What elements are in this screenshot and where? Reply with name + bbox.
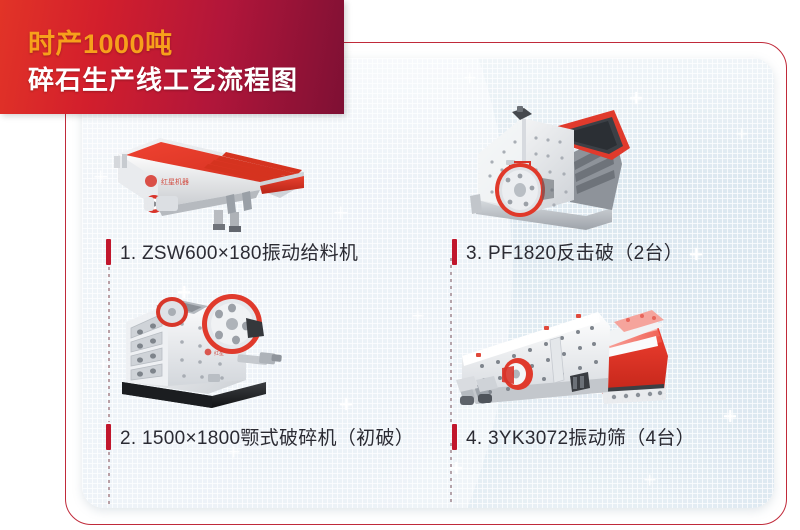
item-label-text: 1. ZSW600×180振动给料机 — [120, 238, 358, 265]
accent-bar — [452, 424, 457, 450]
infographic-canvas: 红星机器 1. ZSW600×180振动给料机 — [0, 0, 800, 530]
item-label-1: 1. ZSW600×180振动给料机 — [106, 238, 358, 265]
item-label-2: 2. 1500×1800颚式破碎机（初破） — [106, 423, 414, 450]
machine-image-vibrating-feeder: 红星机器 — [104, 124, 310, 232]
banner-line-1: 时产1000吨 — [28, 22, 173, 61]
banner-line-2: 碎石生产线工艺流程图 — [28, 60, 298, 97]
accent-bar — [106, 239, 111, 265]
accent-bar — [106, 424, 111, 450]
svg-text:红星: 红星 — [214, 350, 224, 357]
machine-image-jaw-crusher: 红星 — [96, 282, 304, 408]
machine-image-impact-crusher — [462, 104, 642, 232]
title-banner: 时产1000吨 碎石生产线工艺流程图 — [0, 0, 344, 114]
svg-text:红星机器: 红星机器 — [161, 177, 189, 186]
column-divider — [450, 443, 452, 505]
item-label-4: 4. 3YK3072振动筛（4台） — [452, 423, 695, 450]
item-label-text: 3. PF1820反击破（2台） — [466, 238, 683, 265]
machine-image-vibrating-screen — [452, 292, 672, 414]
item-label-text: 4. 3YK3072振动筛（4台） — [466, 423, 695, 450]
item-label-3: 3. PF1820反击破（2台） — [452, 238, 683, 265]
item-label-text: 2. 1500×1800颚式破碎机（初破） — [120, 423, 414, 450]
item-connector-line — [108, 445, 110, 505]
accent-bar — [452, 239, 457, 265]
